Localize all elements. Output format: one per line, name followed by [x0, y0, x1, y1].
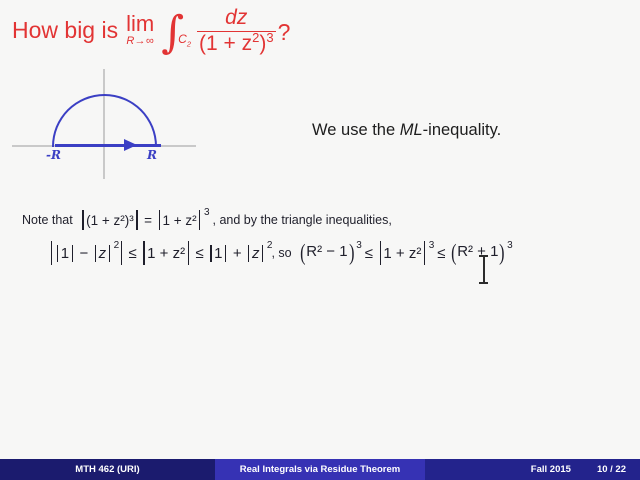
abs-bar-right-icon	[262, 245, 263, 262]
line1-rhs-inner: 1 + z²	[162, 213, 196, 228]
ml-inequality-note: We use the ML-inequality.	[312, 121, 501, 140]
slide-canvas: How big is lim R→∞ ∫ C2 dz (1 + z2)3 ? -…	[0, 0, 640, 480]
footer-term: Fall 2015	[531, 464, 571, 475]
footer-right-group: Fall 2015 10 / 22	[425, 459, 640, 480]
line2-abs-mid2: 1 + z²	[377, 241, 428, 265]
line2-le-4: ≤	[437, 245, 445, 262]
abs-bar-left-icon	[380, 241, 381, 265]
abs-bar-left-icon	[57, 245, 58, 262]
line2-abs-z: z	[92, 245, 112, 262]
line1-lead: Note that	[22, 213, 73, 227]
line2-le-3: ≤	[365, 245, 373, 262]
line2-rhs-one: 1	[214, 245, 222, 262]
slide-title: How big is lim R→∞ ∫ C2 dz (1 + z2)3 ?	[12, 6, 290, 55]
line1-abs-lhs: (1 + z²)³	[80, 210, 140, 230]
line2-mid-expression-2: 1 + z²	[383, 245, 421, 262]
contour-diagram: -R R	[0, 62, 225, 180]
abs-bar-left-icon	[143, 241, 144, 265]
line2-left-expression: R² − 1	[306, 243, 347, 264]
contour-direction-arrow-icon	[124, 139, 137, 151]
footer-page-number: 10 / 22	[597, 464, 626, 475]
abs-bar-right-icon	[225, 245, 226, 262]
title-lead-text: How big is	[12, 19, 118, 42]
abs-bar-right-icon	[109, 245, 110, 262]
line2-minus: −	[80, 245, 89, 262]
line2-plus: +	[233, 245, 242, 262]
paren-left-icon: (	[451, 243, 456, 264]
line1-trailing-text: , and by the triangle inequalities,	[213, 213, 392, 227]
limit-operator: lim R→∞	[126, 13, 154, 47]
abs-bar-left-icon	[82, 210, 83, 230]
paren-right-icon: )	[349, 243, 354, 264]
cursor-cap-bottom	[479, 282, 488, 284]
abs-bar-left-icon	[210, 245, 211, 262]
line2-so-text: , so	[271, 246, 291, 260]
line2-le-1: ≤	[129, 245, 137, 262]
abs-bar-right-icon	[136, 210, 137, 230]
line2-z: z	[99, 245, 107, 262]
note-text-after: -inequality.	[423, 121, 502, 139]
line2-outer-abs-left: 1 − z 2	[48, 241, 125, 265]
math-line-1: Note that (1 + z²)³ = 1 + z² 3 , and by …	[22, 210, 512, 230]
fraction-denominator: (1 + z2)3	[197, 32, 276, 56]
fraction-numerator: dz	[221, 7, 251, 31]
abs-bar-right-icon	[72, 245, 73, 262]
line1-equals: =	[144, 213, 152, 228]
line2-abs-one: 1	[54, 245, 75, 262]
line1-abs-rhs: 1 + z²	[156, 210, 203, 230]
footer-course: MTH 462 (URI)	[0, 459, 215, 480]
line2-left-paren-group: ( R² − 1 )	[299, 243, 356, 264]
line2-le-2: ≤	[195, 245, 203, 262]
footer-topic: Real Integrals via Residue Theorem	[215, 459, 425, 480]
note-text-before: We use the	[312, 121, 400, 139]
title-question-mark: ?	[278, 21, 291, 44]
line2-abs-one-right: 1	[208, 245, 229, 262]
abs-bar-right-icon	[199, 210, 200, 230]
line2-mid-expr: 1 + z²	[147, 245, 185, 262]
abs-bar-left-icon	[248, 245, 249, 262]
limit-lim-text: lim	[126, 13, 154, 35]
line2-abs-mid: 1 + z²	[141, 241, 192, 265]
limit-subscript: R→∞	[126, 36, 154, 47]
contour-baseline-segment	[55, 144, 161, 147]
title-fraction: dz (1 + z2)3	[197, 7, 276, 56]
math-line-2: 1 − z 2 ≤ 1 + z² ≤ 1	[48, 241, 512, 265]
abs-bar-left-icon	[95, 245, 96, 262]
math-derivation-block: Note that (1 + z²)³ = 1 + z² 3 , and by …	[22, 210, 512, 265]
abs-bar-left-icon	[51, 241, 52, 265]
slide-footer: MTH 462 (URI) Real Integrals via Residue…	[0, 459, 640, 480]
line1-lhs-inner: (1 + z²)³	[86, 213, 134, 228]
line2-right-paren-group: ( R² + 1 )	[450, 243, 507, 264]
line2-one: 1	[61, 245, 69, 262]
line2-abs-z-right: z	[246, 245, 266, 262]
abs-bar-right-icon	[121, 241, 122, 265]
abs-bar-right-icon	[188, 241, 189, 265]
line2-right-expression: R² + 1	[457, 243, 498, 264]
abs-bar-right-icon	[424, 241, 425, 265]
semicircle-arc	[52, 94, 157, 147]
integral-contour-label: C2	[178, 33, 191, 45]
abs-bar-left-icon	[159, 210, 160, 230]
paren-left-icon: (	[300, 243, 305, 264]
note-emphasis-ml: ML	[400, 121, 423, 139]
line2-rhs-z: z	[252, 245, 260, 262]
axis-label-negative-R: -R	[46, 148, 61, 162]
axis-label-R: R	[147, 148, 157, 162]
paren-right-icon: )	[500, 243, 505, 264]
